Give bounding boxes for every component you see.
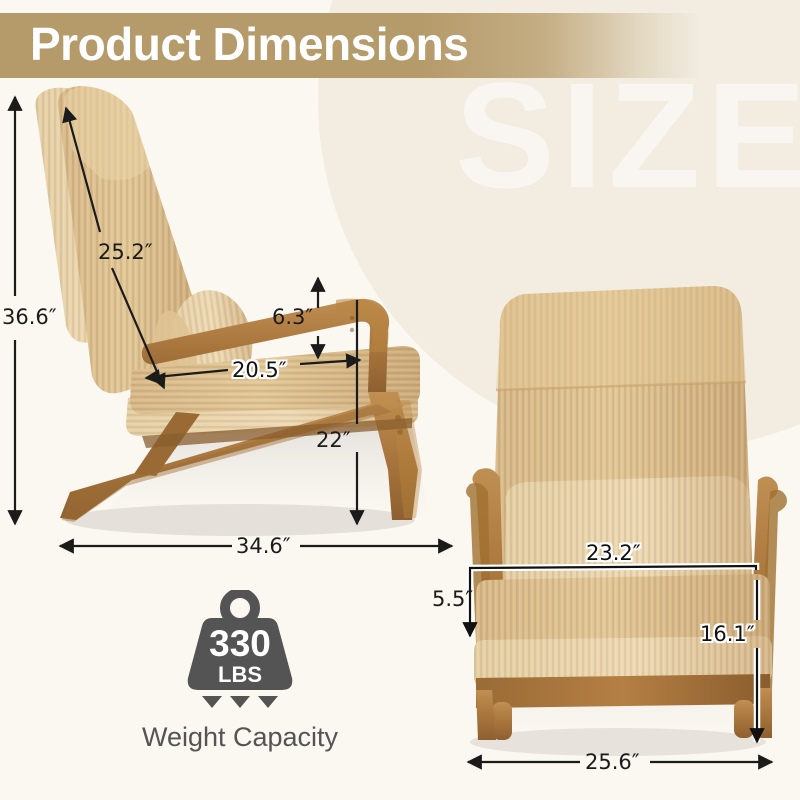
weight-capacity-caption: Weight Capacity xyxy=(120,722,360,753)
weight-icon-svg: 330 LBS xyxy=(160,590,320,710)
weight-unit-text: LBS xyxy=(218,662,262,687)
dimension-label-cushion-thickness: 5.5″ xyxy=(432,587,473,611)
dimension-label-seat-width: 23.2″ xyxy=(586,541,641,565)
infographic-canvas: SIZE Product Dimensions xyxy=(0,0,800,800)
dimension-label-arm-to-floor: 22″ xyxy=(316,428,351,452)
dimension-label-overall-width: 25.6″ xyxy=(585,750,640,774)
down-arrow-icon-1 xyxy=(202,696,222,708)
weight-icon: 330 LBS xyxy=(160,590,320,710)
dimension-label-seat-depth: 20.5″ xyxy=(232,358,287,382)
dimension-label-overall-depth: 34.6″ xyxy=(236,534,291,558)
down-arrow-icon-2 xyxy=(230,696,250,708)
dimension-label-overall-height: 36.6″ xyxy=(2,305,57,329)
weight-capacity-badge: 330 LBS Weight Capacity xyxy=(120,590,360,753)
dimension-label-arm-height: 6.3″ xyxy=(272,305,313,329)
down-arrow-icon-3 xyxy=(258,696,278,708)
dimension-label-backrest-height: 25.2″ xyxy=(98,240,153,264)
size-watermark-text: SIZE xyxy=(455,60,800,210)
page-title: Product Dimensions xyxy=(30,13,468,78)
dimension-label-seat-height: 16.1″ xyxy=(700,622,755,646)
weight-value-text: 330 xyxy=(209,623,271,664)
